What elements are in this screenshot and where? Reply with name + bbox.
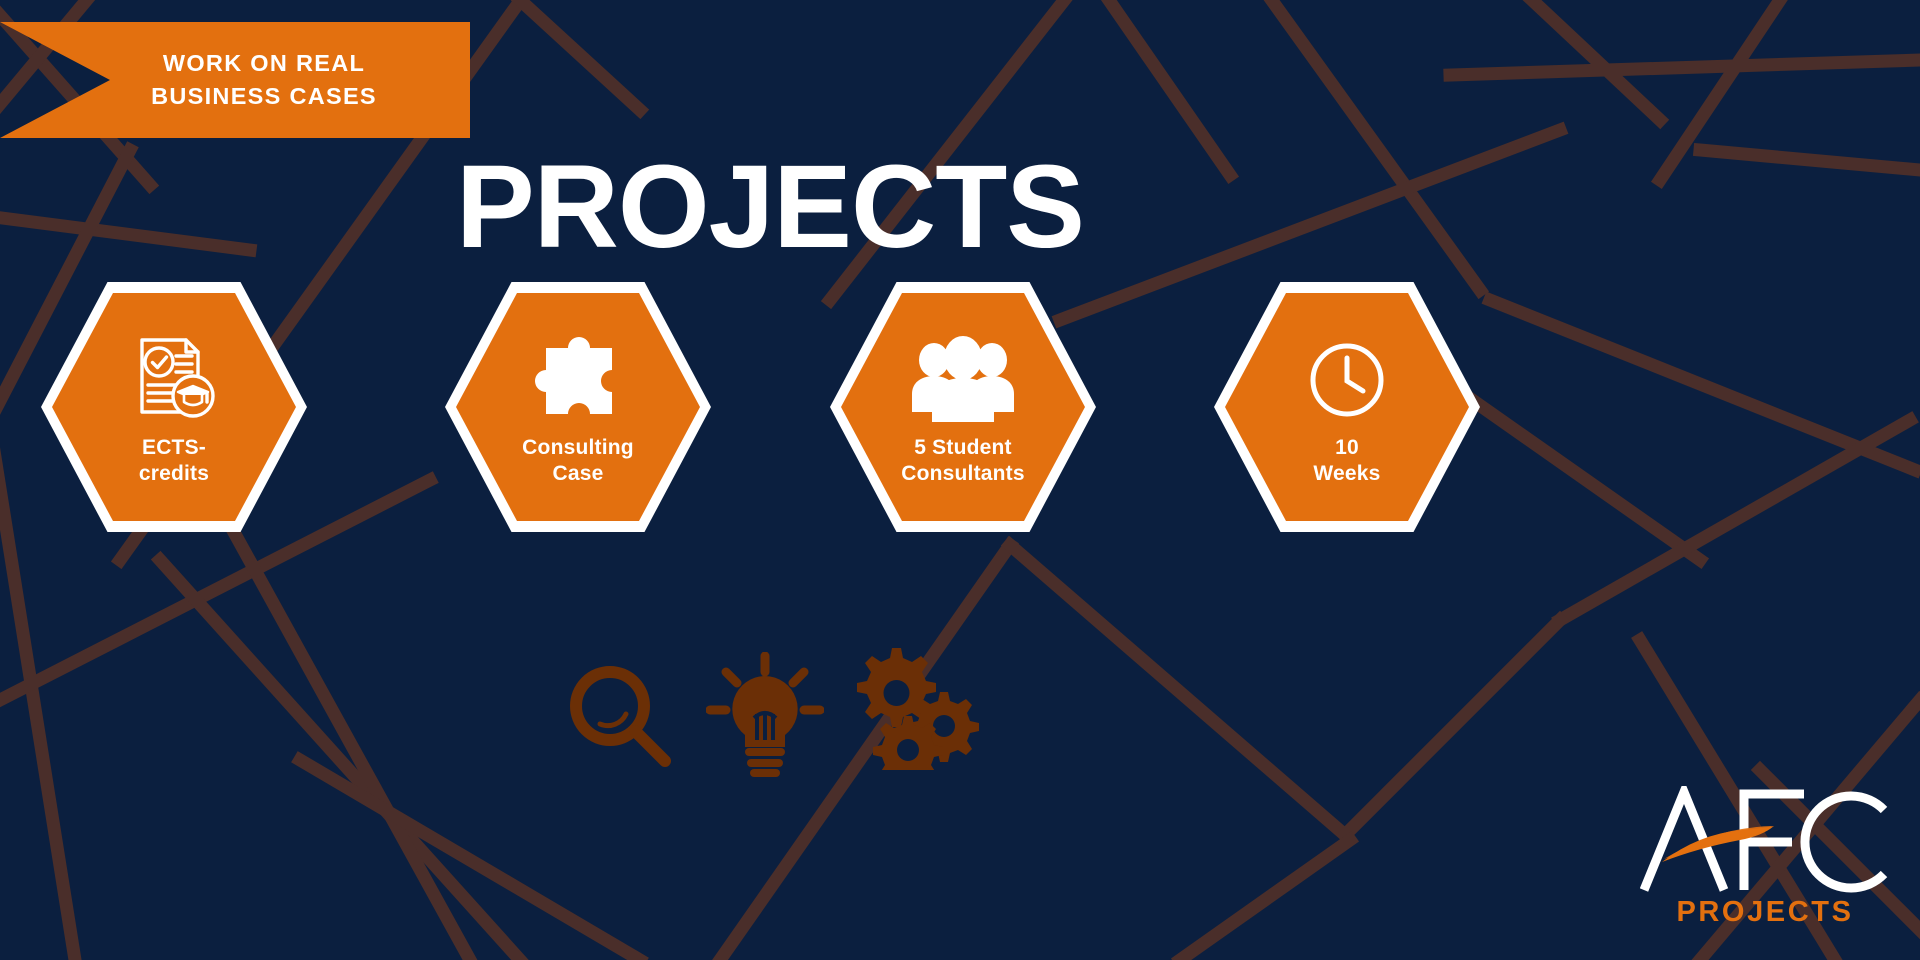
gears-icon <box>848 640 988 775</box>
hexagon-label: 5 Student Consultants <box>901 435 1025 486</box>
banner-line-2: BUSINESS CASES <box>58 80 470 113</box>
hexagon-label-line-1: 5 Student <box>901 435 1025 461</box>
hexagon-label-line-2: Weeks <box>1313 461 1380 487</box>
hexagon-duration-weeks[interactable]: 10 Weeks <box>1214 282 1480 532</box>
feature-hexagon-row: ECTS- credits Consulting Case <box>0 282 1540 532</box>
hexagon-label-line-2: Case <box>522 461 634 487</box>
afc-logo-mark <box>1640 786 1890 894</box>
certificate-document-icon <box>124 331 224 429</box>
hexagon-label-line-1: ECTS- <box>139 435 209 461</box>
hexagon-label-line-2: Consultants <box>901 461 1025 487</box>
hexagon-label: ECTS- credits <box>139 435 209 486</box>
clock-icon <box>1300 331 1394 429</box>
hexagon-label: 10 Weeks <box>1313 435 1380 486</box>
hexagon-label-line-1: Consulting <box>522 435 634 461</box>
hexagon-student-consultants[interactable]: 5 Student Consultants <box>830 282 1096 532</box>
poster-canvas: WORK ON REAL BUSINESS CASES PROJECTS <box>0 0 1920 960</box>
hexagon-label-line-1: 10 <box>1313 435 1380 461</box>
magnifier-icon <box>566 662 676 777</box>
afc-projects-logo[interactable]: PROJECTS <box>1640 786 1890 946</box>
hexagon-label-line-2: credits <box>139 461 209 487</box>
lightbulb-icon <box>706 652 824 783</box>
afc-logo-subtitle: PROJECTS <box>1640 896 1890 929</box>
puzzle-piece-icon <box>526 331 630 429</box>
people-group-icon <box>908 331 1018 429</box>
hexagon-label: Consulting Case <box>522 435 634 486</box>
page-title: PROJECTS <box>0 148 1540 266</box>
hexagon-ects-credits[interactable]: ECTS- credits <box>41 282 307 532</box>
hexagon-consulting-case[interactable]: Consulting Case <box>445 282 711 532</box>
banner-line-1: WORK ON REAL <box>58 47 470 80</box>
